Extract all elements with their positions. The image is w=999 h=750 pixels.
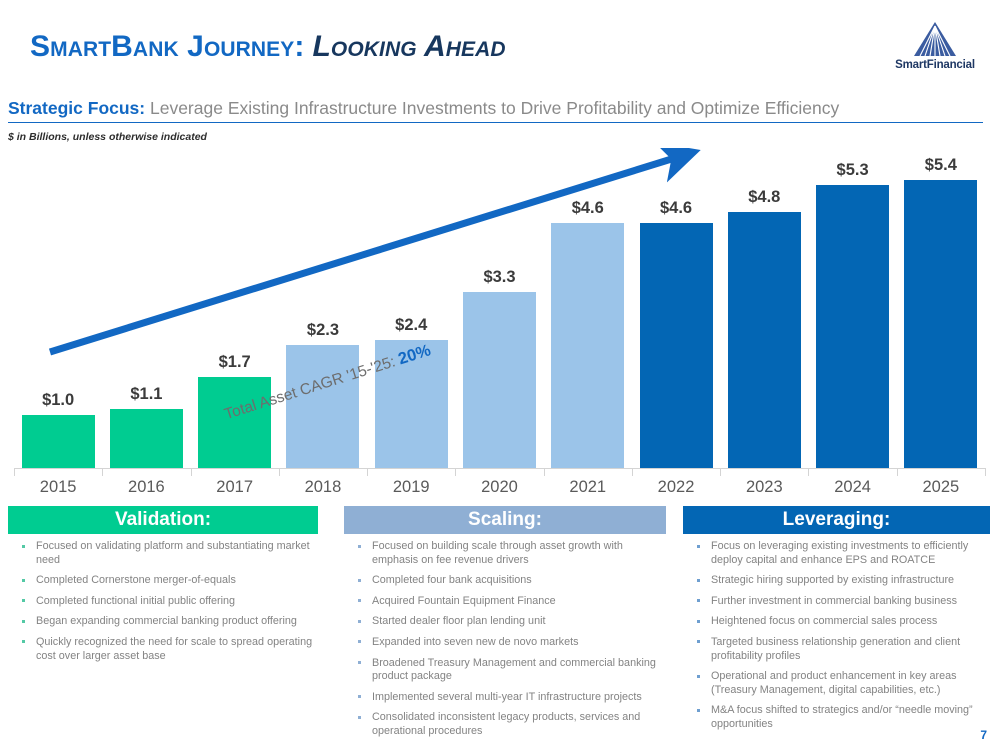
x-label-2015: 2015 xyxy=(14,478,102,497)
bar-2021 xyxy=(551,223,624,468)
panel-leveraging-bullets: Focus on leveraging existing investments… xyxy=(683,534,990,732)
x-label-2021: 2021 xyxy=(544,478,632,497)
bullet-item: Targeted business relationship generatio… xyxy=(685,636,988,663)
bullet-icon xyxy=(358,599,361,602)
bullet-icon xyxy=(358,716,361,719)
asset-growth-bar-chart: $1.0$1.1$1.7$2.3$2.4$3.3$4.6$4.6$4.8$5.3… xyxy=(0,148,999,500)
x-label-2025: 2025 xyxy=(897,478,985,497)
panel-scaling: Scaling: Focused on building scale throu… xyxy=(344,506,666,746)
panel-validation: Validation: Focused on validating platfo… xyxy=(8,506,318,670)
page-title: SmartBank Journey:Looking Ahead xyxy=(30,30,506,64)
bullet-icon xyxy=(358,579,361,582)
bar-2022 xyxy=(640,223,713,468)
x-tick-2020 xyxy=(455,468,456,476)
bar-2020 xyxy=(463,292,536,468)
bar-2024 xyxy=(816,185,889,468)
bullet-item: Further investment in commercial banking… xyxy=(685,595,988,609)
bullet-icon xyxy=(697,620,700,623)
bar-label-2016: $1.1 xyxy=(100,385,193,404)
smartfinancial-logo: SmartFinancial xyxy=(883,18,987,74)
bar-2023 xyxy=(728,212,801,468)
bar-label-2020: $3.3 xyxy=(453,268,546,287)
chart-plot-area: $1.0$1.1$1.7$2.3$2.4$3.3$4.6$4.6$4.8$5.3… xyxy=(14,148,985,468)
bullet-item: Acquired Fountain Equipment Finance xyxy=(346,595,664,609)
x-tick-2015 xyxy=(14,468,15,476)
bullet-item: Broadened Treasury Management and commer… xyxy=(346,657,664,684)
bullet-icon xyxy=(358,640,361,643)
bullet-icon xyxy=(22,579,25,582)
bullet-icon xyxy=(697,640,700,643)
x-tick-2023 xyxy=(720,468,721,476)
bullet-icon xyxy=(358,545,361,548)
phase-panels: Validation: Focused on validating platfo… xyxy=(0,506,999,750)
bar-label-2025: $5.4 xyxy=(894,156,987,175)
x-tick-2022 xyxy=(632,468,633,476)
x-label-2016: 2016 xyxy=(102,478,190,497)
bullet-icon xyxy=(697,579,700,582)
x-label-2023: 2023 xyxy=(720,478,808,497)
bullet-item: Began expanding commercial banking produ… xyxy=(10,615,316,629)
strategic-focus-text: Leverage Existing Infrastructure Investm… xyxy=(145,98,839,118)
x-label-2024: 2024 xyxy=(808,478,896,497)
x-tick-2016 xyxy=(102,468,103,476)
bullet-item: Strategic hiring supported by existing i… xyxy=(685,574,988,588)
x-tick-2018 xyxy=(279,468,280,476)
title-main: SmartBank Journey: xyxy=(30,30,304,63)
panel-leveraging-header: Leveraging: xyxy=(683,506,990,534)
slide: SmartBank Journey:Looking Ahead SmartFin… xyxy=(0,0,999,750)
x-label-2022: 2022 xyxy=(632,478,720,497)
title-sub: Looking Ahead xyxy=(312,30,505,63)
strategic-focus-label: Strategic Focus: xyxy=(8,98,145,118)
bullet-item: Completed four bank acquisitions xyxy=(346,574,664,588)
bullet-item: Completed Cornerstone merger-of-equals xyxy=(10,574,316,588)
bullet-item: Heightened focus on commercial sales pro… xyxy=(685,615,988,629)
x-label-2018: 2018 xyxy=(279,478,367,497)
bar-label-2024: $5.3 xyxy=(806,161,899,180)
x-label-2019: 2019 xyxy=(367,478,455,497)
x-tick-2021 xyxy=(544,468,545,476)
logo-triangle-icon xyxy=(883,18,987,58)
bar-2016 xyxy=(110,409,183,468)
bullet-icon xyxy=(358,695,361,698)
bullet-item: Completed functional initial public offe… xyxy=(10,595,316,609)
x-tick-2017 xyxy=(191,468,192,476)
bullet-icon xyxy=(697,675,700,678)
panel-scaling-header: Scaling: xyxy=(344,506,666,534)
bar-2017 xyxy=(198,377,271,468)
panel-validation-header: Validation: xyxy=(8,506,318,534)
bar-label-2018: $2.3 xyxy=(276,321,369,340)
bullet-item: Operational and product enhancement in k… xyxy=(685,670,988,697)
chart-axis-line xyxy=(14,468,985,469)
bullet-icon xyxy=(697,599,700,602)
x-tick-2024 xyxy=(808,468,809,476)
strategic-focus-banner: Strategic Focus: Leverage Existing Infra… xyxy=(8,98,983,123)
page-number: 7 xyxy=(980,728,987,742)
bullet-item: Focused on validating platform and subst… xyxy=(10,540,316,567)
x-label-2020: 2020 xyxy=(455,478,543,497)
bar-2015 xyxy=(22,415,95,468)
bar-label-2023: $4.8 xyxy=(718,188,811,207)
x-tick-2019 xyxy=(367,468,368,476)
panel-scaling-bullets: Focused on building scale through asset … xyxy=(344,534,666,739)
bullet-item: Started dealer floor plan lending unit xyxy=(346,615,664,629)
bullet-item: Consolidated inconsistent legacy product… xyxy=(346,711,664,738)
bullet-item: Quickly recognized the need for scale to… xyxy=(10,636,316,663)
bullet-icon xyxy=(22,640,25,643)
bullet-item: M&A focus shifted to strategics and/or “… xyxy=(685,704,988,731)
bullet-icon xyxy=(358,661,361,664)
bullet-item: Expanded into seven new de novo markets xyxy=(346,636,664,650)
panel-validation-bullets: Focused on validating platform and subst… xyxy=(8,534,318,663)
bullet-item: Implemented several multi-year IT infras… xyxy=(346,691,664,705)
x-tick-2025 xyxy=(897,468,898,476)
bullet-icon xyxy=(22,545,25,548)
bar-label-2017: $1.7 xyxy=(188,353,281,372)
panel-leveraging: Leveraging: Focus on leveraging existing… xyxy=(683,506,990,739)
bar-label-2019: $2.4 xyxy=(365,316,458,335)
bullet-icon xyxy=(697,545,700,548)
bar-label-2022: $4.6 xyxy=(630,199,723,218)
bullet-icon xyxy=(22,620,25,623)
bar-label-2021: $4.6 xyxy=(541,199,634,218)
bar-label-2015: $1.0 xyxy=(12,391,105,410)
units-note: $ in Billions, unless otherwise indicate… xyxy=(8,131,207,143)
bar-2025 xyxy=(904,180,977,468)
bar-2018 xyxy=(286,345,359,468)
bullet-icon xyxy=(358,620,361,623)
logo-wordmark: SmartFinancial xyxy=(883,59,987,71)
x-label-2017: 2017 xyxy=(191,478,279,497)
bullet-item: Focused on building scale through asset … xyxy=(346,540,664,567)
x-tick-end xyxy=(985,468,986,476)
bullet-icon xyxy=(697,709,700,712)
bullet-item: Focus on leveraging existing investments… xyxy=(685,540,988,567)
bullet-icon xyxy=(22,599,25,602)
